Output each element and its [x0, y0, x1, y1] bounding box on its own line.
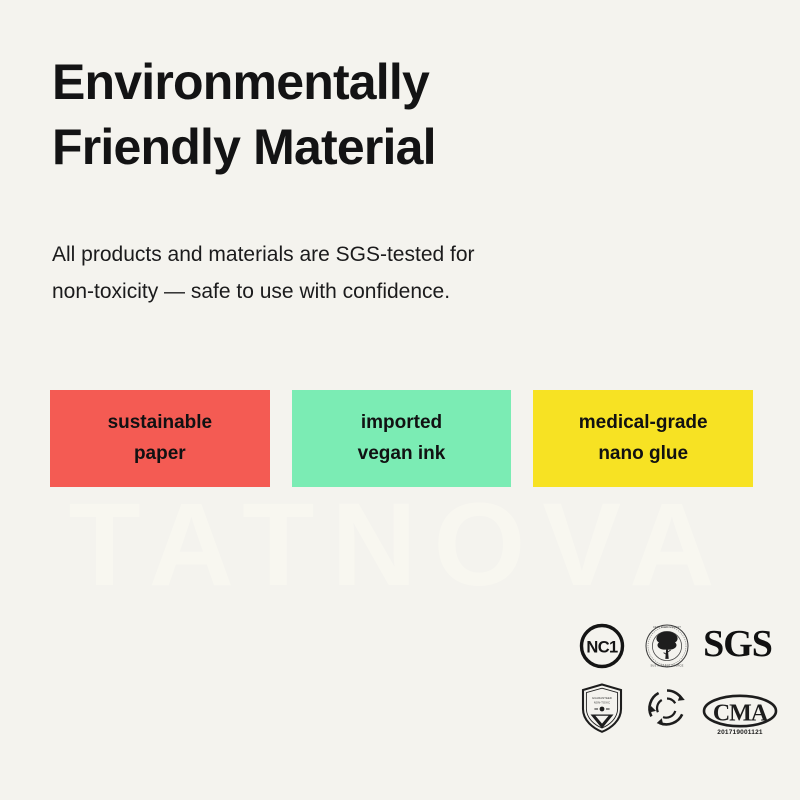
cma-badge: CMA 201719001121	[702, 680, 778, 736]
brand-watermark: TATNOVA	[0, 486, 800, 604]
certification-badges: NC1 CERTIFIED FOREST SUSTAINABLE SOURCE …	[572, 618, 778, 736]
recycle-loop-icon	[642, 683, 692, 733]
shield-badge: GUARANTEED NON-TOXIC	[572, 680, 631, 736]
shield-badge-icon: GUARANTEED NON-TOXIC	[579, 682, 625, 734]
page-title-line-2: Friendly Material	[52, 115, 732, 180]
chip-label-line-2: nano glue	[598, 439, 688, 470]
chip-label-line-2: paper	[134, 439, 186, 470]
page-title-line-1: Environmentally	[52, 54, 429, 110]
material-chip-group: sustainable paper imported vegan ink med…	[50, 390, 753, 487]
chip-medical-grade-nano-glue: medical-grade nano glue	[533, 390, 753, 487]
svg-text:CERTIFIED FOREST: CERTIFIED FOREST	[653, 625, 681, 629]
page-title: Environmentally Friendly Material	[52, 50, 732, 180]
svg-text:CMA: CMA	[713, 701, 769, 727]
poster-canvas: TATNOVA Environmentally Friendly Materia…	[0, 0, 800, 800]
cma-oval-icon: CMA	[702, 694, 778, 728]
nc1-badge: NC1	[572, 618, 632, 674]
page-subtitle-line-2: non-toxicity — safe to use with confiden…	[52, 273, 672, 310]
svg-text:NC1: NC1	[586, 638, 618, 656]
certification-row-2: GUARANTEED NON-TOXIC	[572, 680, 778, 736]
svg-text:GUARANTEED: GUARANTEED	[591, 696, 611, 700]
tree-seal-icon: CERTIFIED FOREST SUSTAINABLE SOURCE	[642, 621, 692, 671]
tree-seal-badge: CERTIFIED FOREST SUSTAINABLE SOURCE	[638, 618, 698, 674]
chip-label-line-1: sustainable	[108, 408, 213, 439]
page-subtitle: All products and materials are SGS-teste…	[52, 236, 672, 311]
chip-label-line-1: imported	[361, 408, 442, 439]
certification-row-1: NC1 CERTIFIED FOREST SUSTAINABLE SOURCE …	[572, 618, 778, 674]
chip-imported-vegan-ink: imported vegan ink	[292, 390, 512, 487]
cma-certificate-number: 201719001121	[717, 729, 762, 736]
chip-sustainable-paper: sustainable paper	[50, 390, 270, 487]
page-subtitle-line-1: All products and materials are SGS-teste…	[52, 243, 475, 266]
sgs-badge: SGS	[703, 616, 778, 674]
svg-text:SUSTAINABLE SOURCE: SUSTAINABLE SOURCE	[651, 664, 684, 668]
recycle-badge	[637, 680, 696, 736]
svg-text:NON-TOXIC: NON-TOXIC	[593, 700, 609, 704]
nc1-circle-icon: NC1	[577, 621, 627, 671]
chip-label-line-2: vegan ink	[358, 439, 446, 470]
chip-label-line-1: medical-grade	[579, 408, 708, 439]
